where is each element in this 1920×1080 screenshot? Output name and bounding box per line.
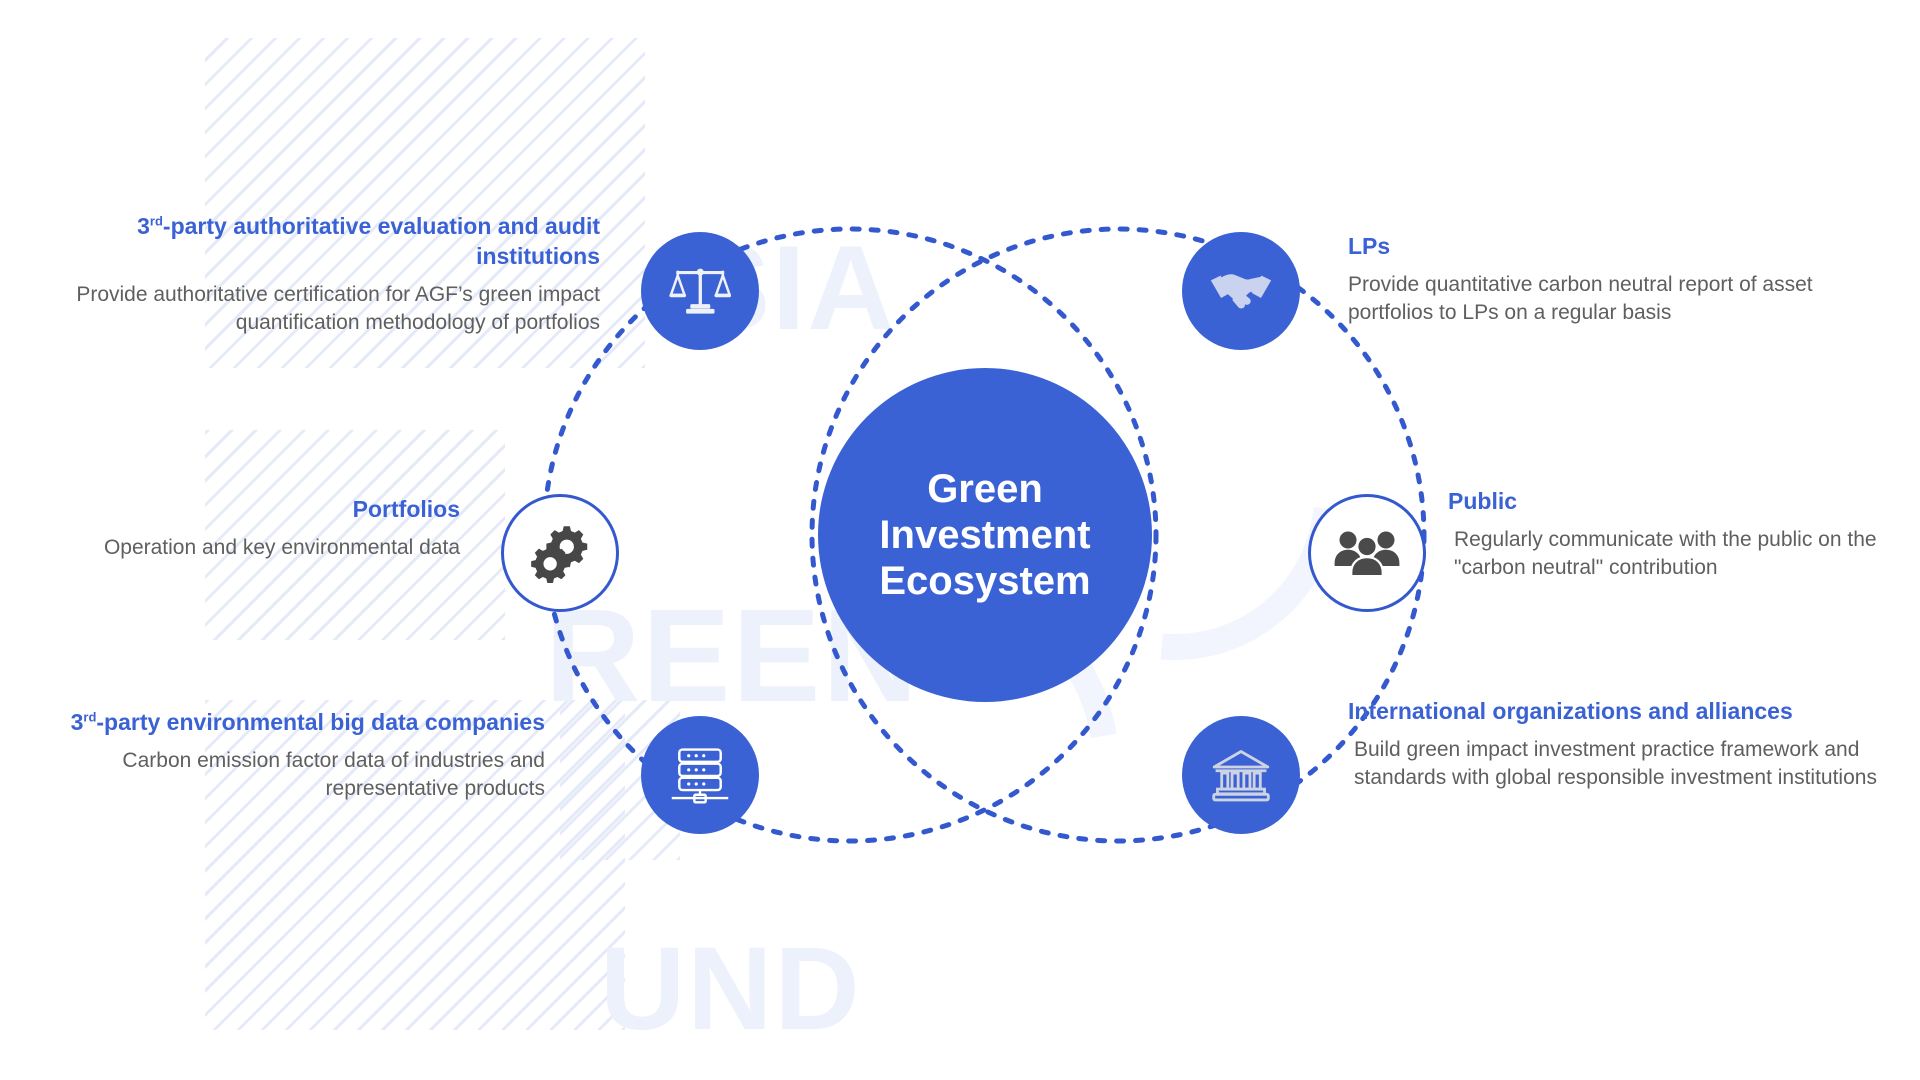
node-lps[interactable] xyxy=(1182,232,1300,350)
gears-icon xyxy=(527,522,593,584)
bank-icon xyxy=(1209,747,1273,803)
title-public: Public xyxy=(1448,487,1898,517)
description-international: Build green impact investment practice f… xyxy=(1348,736,1888,791)
handshake-icon xyxy=(1208,265,1274,317)
text-block-lps: LPs Provide quantitative carbon neutral … xyxy=(1348,232,1848,326)
center-circle: Green Investment Ecosystem xyxy=(818,368,1152,702)
text-block-public: Public Regularly communicate with the pu… xyxy=(1448,487,1898,581)
description-lps: Provide quantitative carbon neutral repo… xyxy=(1348,271,1848,326)
description-bigdata: Carbon emission factor data of industrie… xyxy=(40,747,545,802)
description-portfolios: Operation and key environmental data xyxy=(40,534,460,562)
text-block-bigdata: 3rd-party environmental big data compani… xyxy=(40,708,545,802)
scales-icon xyxy=(669,260,731,322)
node-evaluation[interactable] xyxy=(641,232,759,350)
node-international[interactable] xyxy=(1182,716,1300,834)
description-evaluation: Provide authoritative certification for … xyxy=(40,281,600,336)
title-evaluation: 3rd-party authoritative evaluation and a… xyxy=(40,212,600,272)
title-lps: LPs xyxy=(1348,232,1848,262)
center-label: Green Investment Ecosystem xyxy=(879,466,1090,604)
node-bigdata[interactable] xyxy=(641,716,759,834)
description-public: Regularly communicate with the public on… xyxy=(1448,526,1898,581)
text-block-portfolios: Portfolios Operation and key environment… xyxy=(40,495,460,562)
server-icon xyxy=(668,745,732,805)
node-portfolios[interactable] xyxy=(501,494,619,612)
text-block-international: International organizations and alliance… xyxy=(1348,697,1888,791)
title-bigdata: 3rd-party environmental big data compani… xyxy=(40,708,545,738)
people-icon xyxy=(1334,528,1400,578)
title-portfolios: Portfolios xyxy=(40,495,460,525)
text-block-evaluation: 3rd-party authoritative evaluation and a… xyxy=(40,212,600,336)
title-international: International organizations and alliance… xyxy=(1348,697,1888,727)
node-public[interactable] xyxy=(1308,494,1426,612)
